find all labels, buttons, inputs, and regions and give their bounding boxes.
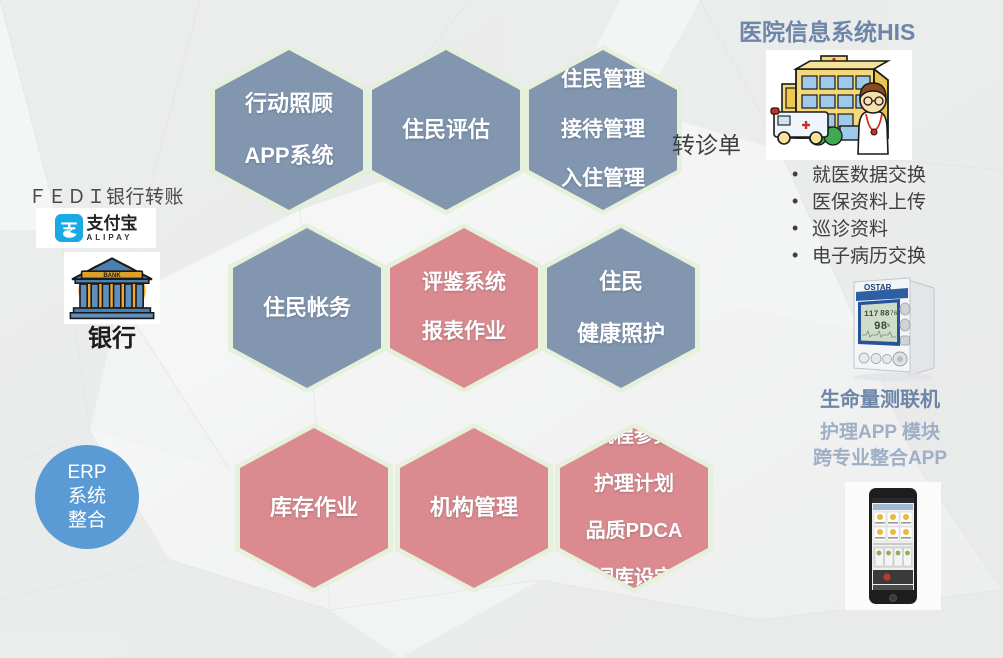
phone-image — [845, 482, 941, 610]
vital-sub-line-2: 跨专业整合APP — [813, 448, 947, 469]
hex-line: 品质PDCA — [580, 520, 689, 544]
hex-resident-accounting[interactable]: 住民帐务 — [233, 228, 381, 388]
vital-signs-monitor-icon: OSTAR 117 88 76 98 % — [838, 272, 950, 384]
erp-line-2: 系统 — [68, 486, 106, 507]
hex-line: 机构管理 — [424, 495, 524, 521]
erp-line-3: 整合 — [68, 510, 106, 531]
hospital-image — [766, 50, 912, 160]
list-item: 巡诊资料 — [790, 217, 926, 244]
his-title: 医院信息系统HIS — [739, 13, 915, 47]
svg-text:76: 76 — [890, 310, 898, 317]
svg-text:117: 117 — [864, 310, 879, 319]
hex-line: 接待管理 — [555, 118, 651, 143]
hex-line: 评鉴系统 — [416, 271, 512, 296]
alipay-name-en: ALIPAY — [87, 234, 133, 242]
list-item: 电子病历交换 — [790, 244, 926, 271]
hex-line: 行动照顾 — [238, 91, 339, 117]
monitor-image: OSTAR 117 88 76 98 % — [838, 272, 950, 384]
hex-resident-admin[interactable]: 住民管理 接待管理 入住管理 — [529, 50, 677, 210]
svg-text:88: 88 — [880, 310, 890, 319]
hex-resident-healthcare[interactable]: 住民 健康照护 — [547, 228, 695, 388]
list-item: 就医数据交换 — [790, 163, 926, 190]
hex-line: 住民 — [571, 269, 671, 295]
list-item: 医保资料上传 — [790, 190, 926, 217]
hex-mobile-care-app[interactable]: 行动照顾 APP系统 — [215, 50, 363, 210]
svg-text:%: % — [887, 323, 890, 329]
hex-line: 入住管理 — [555, 167, 651, 192]
svg-text:BANK: BANK — [103, 273, 121, 279]
hex-line: 住民帐务 — [257, 295, 357, 321]
hex-line: 库存作业 — [264, 495, 364, 521]
bank-label: 银行 — [64, 318, 160, 353]
hex-line: APP系统 — [238, 143, 339, 169]
hex-inventory-operations[interactable]: 库存作业 — [240, 428, 388, 588]
hex-process-parameters[interactable]: 流程参数 护理计划 品质PDCA 词库设定 — [560, 428, 708, 588]
hex-line: 护理计划 — [580, 473, 689, 497]
hospital-building-icon — [766, 50, 912, 160]
diagram-canvas: ＦＥＤＩ银行转账 支付宝 ALIPAY BANK — [0, 0, 1003, 658]
referral-form-label: 转诊单 — [672, 126, 741, 160]
erp-line-1: ERP — [67, 462, 106, 483]
hex-line: 健康照护 — [571, 321, 671, 347]
vital-signs-subtitle: 护理APP 模块 跨专业整合APP — [757, 420, 1003, 471]
bank-logo: BANK — [64, 252, 160, 324]
vital-signs-title: 生命量测联机 — [757, 383, 1003, 412]
his-feature-list: 就医数据交换 医保资料上传 巡诊资料 电子病历交换 — [790, 163, 926, 271]
hex-line: 报表作业 — [416, 320, 512, 345]
bank-building-icon: BANK — [64, 252, 160, 324]
smartphone-app-icon — [845, 482, 941, 610]
alipay-logo-icon — [55, 214, 83, 242]
hex-line: 住民管理 — [555, 68, 651, 93]
alipay-logo: 支付宝 ALIPAY — [36, 208, 156, 248]
alipay-name-cn: 支付宝 — [87, 215, 138, 232]
hex-organization-admin[interactable]: 机构管理 — [400, 428, 548, 588]
svg-text:98: 98 — [874, 321, 888, 333]
erp-integration-badge: ERP 系统 整合 — [35, 445, 139, 549]
svg-text:OSTAR: OSTAR — [864, 283, 892, 292]
vital-sub-line-1: 护理APP 模块 — [820, 422, 940, 443]
hex-line: 住民评估 — [396, 117, 496, 143]
hex-resident-assessment[interactable]: 住民评估 — [372, 50, 520, 210]
fedi-bank-transfer-label: ＦＥＤＩ银行转账 — [28, 182, 184, 209]
hex-evaluation-reports[interactable]: 评鉴系统 报表作业 — [390, 228, 538, 388]
